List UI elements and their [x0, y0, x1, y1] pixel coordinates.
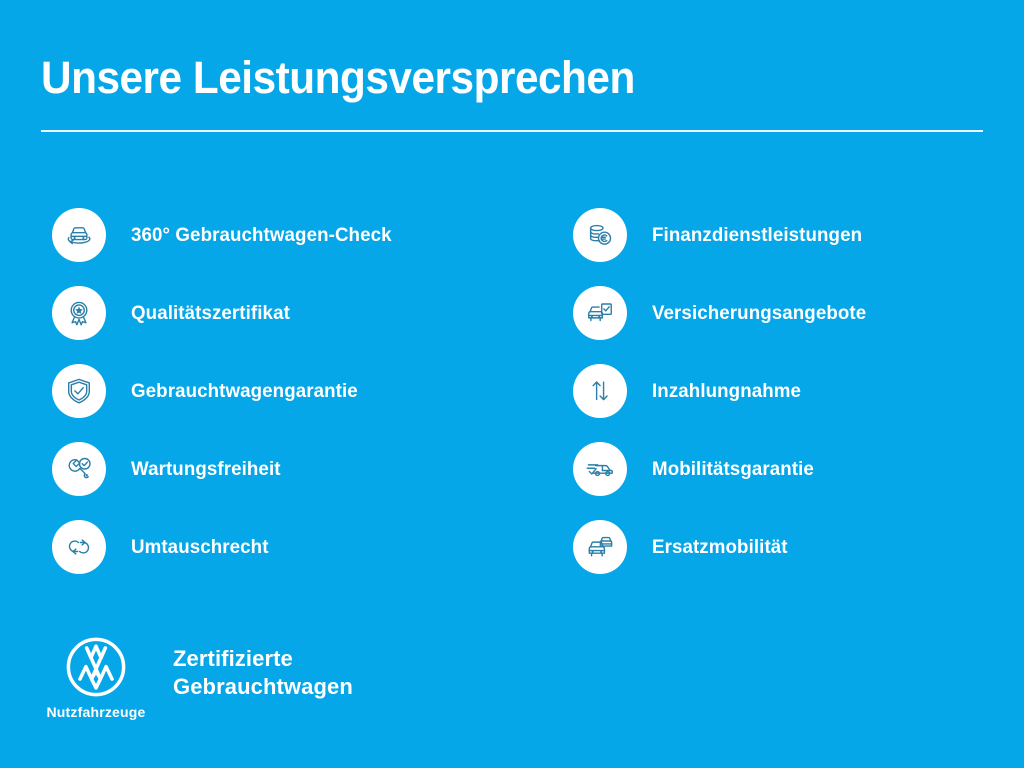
car-360-check-icon: [52, 208, 106, 262]
feature-label: Mobilitätsgarantie: [652, 458, 814, 481]
feature-item[interactable]: Qualitätszertifikat: [52, 274, 522, 352]
footer-line-1: Zertifizierte: [173, 645, 353, 673]
feature-label: Wartungsfreiheit: [131, 458, 281, 481]
feature-column-right: Finanzdienstleistungen: [573, 196, 1013, 586]
feature-item[interactable]: Gebrauchtwagengarantie: [52, 352, 522, 430]
footer-line-2: Gebrauchtwagen: [173, 673, 353, 701]
feature-label: Inzahlungnahme: [652, 380, 801, 403]
feature-label: Versicherungsangebote: [652, 302, 866, 325]
feature-item[interactable]: Inzahlungnahme: [573, 352, 1013, 430]
feature-label: Gebrauchtwagengarantie: [131, 380, 358, 403]
feature-label: Finanzdienstleistungen: [652, 224, 862, 247]
feature-label: Qualitätszertifikat: [131, 302, 290, 325]
feature-item[interactable]: Umtauschrecht: [52, 508, 522, 586]
coins-euro-icon: [573, 208, 627, 262]
car-document-check-icon: [573, 286, 627, 340]
van-speed-check-icon: [573, 442, 627, 496]
brand-sub-label: Nutzfahrzeuge: [46, 704, 145, 720]
feature-label: 360° Gebrauchtwagen-Check: [131, 224, 392, 247]
feature-item[interactable]: 360° Gebrauchtwagen-Check: [52, 196, 522, 274]
exchange-arrows-icon: [52, 520, 106, 574]
feature-item[interactable]: Finanzdienstleistungen: [573, 196, 1013, 274]
feature-column-left: 360° Gebrauchtwagen-Check Qualitätszerti…: [52, 196, 522, 586]
feature-item[interactable]: Wartungsfreiheit: [52, 430, 522, 508]
wrench-check-icon: [52, 442, 106, 496]
feature-label: Umtauschrecht: [131, 536, 269, 559]
volkswagen-logo-icon: [65, 636, 127, 698]
feature-label: Ersatzmobilität: [652, 536, 788, 559]
two-cars-icon: [573, 520, 627, 574]
feature-item[interactable]: Mobilitätsgarantie: [573, 430, 1013, 508]
footer-lockup-text: Zertifizierte Gebrauchtwagen: [173, 645, 353, 701]
feature-item[interactable]: Ersatzmobilität: [573, 508, 1013, 586]
title-divider: [41, 130, 983, 132]
brand-logo-block: Nutzfahrzeuge: [41, 636, 151, 720]
page-title: Unsere Leistungsversprechen: [41, 54, 635, 101]
award-rosette-icon: [52, 286, 106, 340]
shield-check-icon: [52, 364, 106, 418]
arrows-up-down-icon: [573, 364, 627, 418]
feature-item[interactable]: Versicherungsangebote: [573, 274, 1013, 352]
footer-lockup: Nutzfahrzeuge Zertifizierte Gebrauchtwag…: [41, 636, 353, 720]
slide-root: Unsere Leistungsversprechen 360°: [0, 0, 1024, 768]
